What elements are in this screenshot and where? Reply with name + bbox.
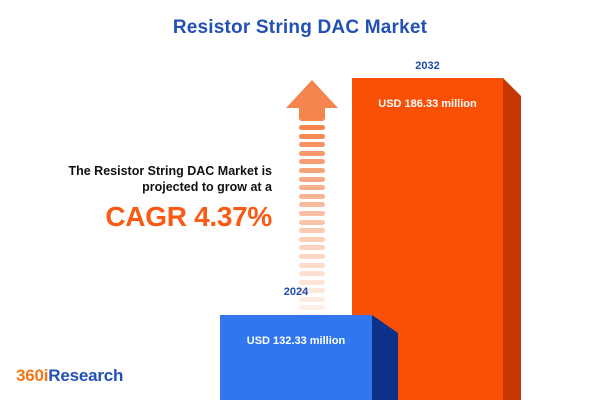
bar-label-2032: 2032: [352, 60, 503, 72]
bar-base-front-face: [220, 315, 372, 400]
arrow-stripe: [299, 134, 325, 139]
arrow-stripe: [299, 168, 325, 173]
arrow-neck-icon: [299, 108, 325, 121]
arrow-stripe: [299, 211, 325, 216]
arrow-head-icon: [286, 80, 338, 108]
market-size-infographic: Resistor String DAC Market 2032 USD 186.…: [0, 0, 600, 400]
cagr-value: CAGR 4.37%: [12, 201, 272, 233]
cagr-lead-line1: The Resistor String DAC Market is: [68, 164, 272, 178]
arrow-stripe: [299, 305, 325, 310]
arrow-stripe: [299, 254, 325, 259]
logo-part-360: 360: [16, 366, 44, 385]
arrow-stripe: [299, 263, 325, 268]
arrow-stripe: [299, 271, 325, 276]
arrow-stripe: [299, 220, 325, 225]
arrow-stripe: [299, 185, 325, 190]
arrow-stripe: [299, 159, 325, 164]
arrow-stripe: [299, 245, 325, 250]
arrow-stripe: [299, 280, 325, 285]
bar-base-value: USD 132.33 million: [220, 335, 372, 347]
cagr-lead-line2: projected to grow at a: [142, 180, 272, 194]
bar-label-2024: 2024: [220, 286, 372, 298]
growth-arrow-icon: [286, 80, 338, 295]
bar-base-side-face: [372, 315, 398, 400]
arrow-stripe: [299, 228, 325, 233]
arrow-stripe: [299, 151, 325, 156]
bar-forecast-side-face: [503, 78, 521, 400]
arrow-stripe: [299, 202, 325, 207]
cagr-lead-text: The Resistor String DAC Market is projec…: [12, 163, 272, 195]
bar-forecast-value: USD 186.33 million: [352, 98, 503, 110]
arrow-stripe: [299, 142, 325, 147]
page-title: Resistor String DAC Market: [0, 17, 600, 39]
bar-base-2024: USD 132.33 million: [220, 315, 398, 400]
arrow-stripe: [299, 177, 325, 182]
cagr-callout: The Resistor String DAC Market is projec…: [12, 163, 272, 233]
arrow-stripe: [299, 237, 325, 242]
logo-part-research: Research: [48, 366, 123, 385]
arrow-stripe: [299, 194, 325, 199]
arrow-stripe: [299, 125, 325, 130]
brand-logo: 360iResearch: [16, 366, 123, 386]
